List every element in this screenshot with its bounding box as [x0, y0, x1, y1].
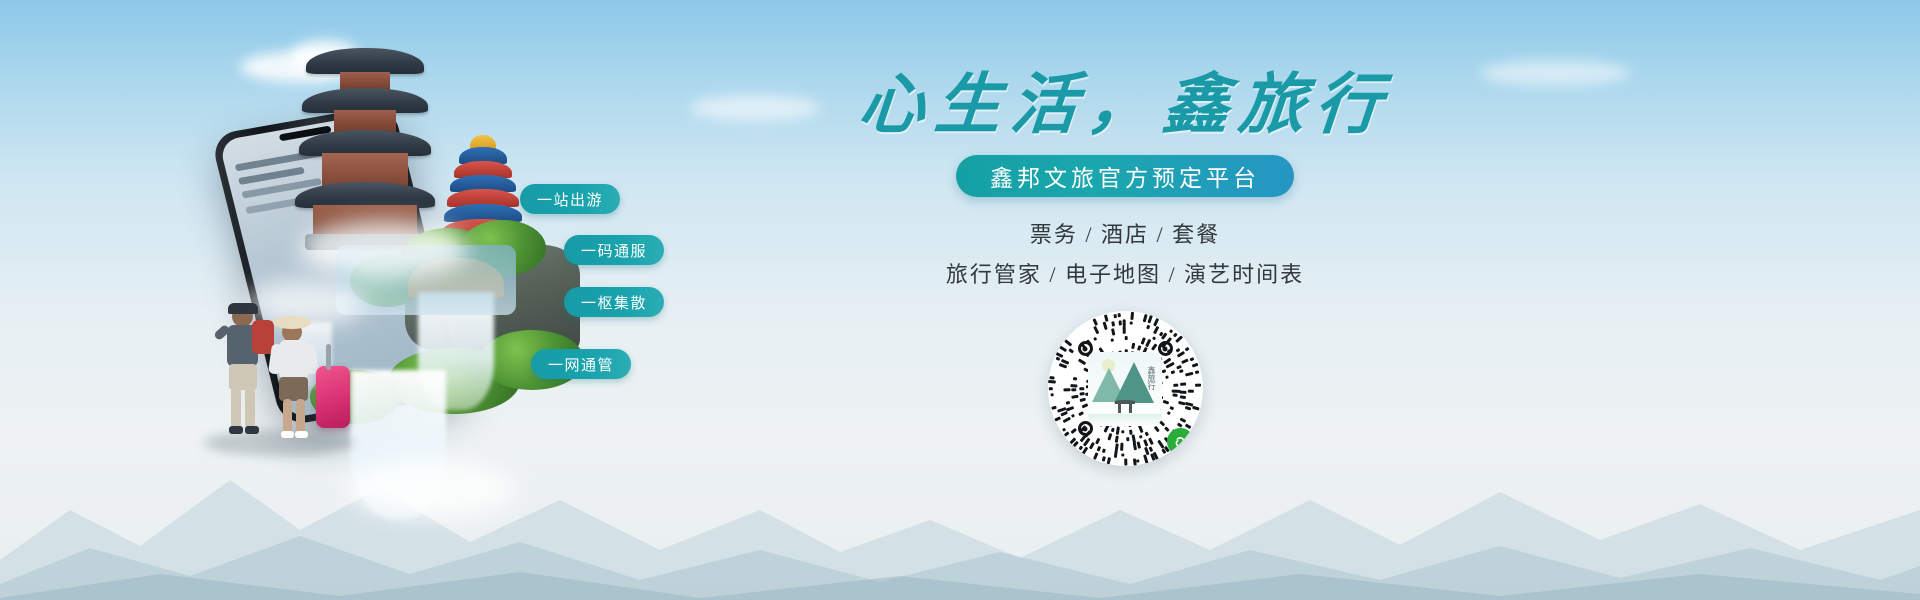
qr-module [1115, 435, 1119, 442]
qr-module [1180, 382, 1186, 385]
feature-pill-label: 一枢集散 [581, 292, 647, 313]
qr-module [1064, 339, 1072, 346]
service-line-1: 票务 / 酒店 / 套餐 [815, 217, 1435, 249]
qr-module [1096, 446, 1101, 452]
qr-module [1192, 406, 1200, 410]
qr-module [1151, 344, 1157, 351]
qr-brand-text: 鑫旅行 [1147, 366, 1156, 390]
qr-module [1123, 327, 1126, 335]
qr-module [1104, 314, 1108, 322]
qr-module [1194, 371, 1199, 374]
qr-module [1096, 438, 1101, 444]
traveler-male [216, 306, 274, 438]
qr-module [1048, 381, 1056, 384]
qr-module [1125, 459, 1128, 466]
qr-module [1059, 346, 1067, 352]
qr-module [1147, 315, 1152, 324]
official-platform-badge[interactable]: 鑫邦文旅官方预定平台 [956, 155, 1294, 197]
qr-center-logo: 鑫旅行 [1088, 352, 1162, 426]
qr-module [1062, 428, 1066, 432]
cloud-decoration [1480, 60, 1630, 86]
qr-module [1078, 358, 1086, 364]
qr-module [1123, 319, 1126, 326]
qr-module [1107, 457, 1111, 465]
wechat-miniprogram-icon [1167, 428, 1194, 455]
qr-module [1120, 443, 1123, 452]
qr-module [1073, 377, 1077, 380]
qr-module [1173, 332, 1177, 336]
qr-module [1167, 411, 1171, 415]
qr-module [1113, 314, 1116, 319]
qr-module [1195, 383, 1201, 386]
qr-module [1063, 389, 1070, 392]
qr-module [1111, 428, 1115, 433]
feature-pill-0[interactable]: 一站出游 [520, 184, 620, 214]
qr-module [1071, 428, 1077, 434]
qr-module [1111, 321, 1114, 326]
qr-module [1050, 387, 1054, 390]
qr-module [1181, 359, 1189, 364]
qr-module [1175, 335, 1183, 342]
feature-pill-3[interactable]: 一网通管 [531, 349, 631, 379]
qr-module [1185, 371, 1193, 375]
qr-module [1180, 390, 1187, 393]
qr-module [1165, 375, 1169, 378]
qr-module [1185, 406, 1191, 410]
feature-pill-label: 一码通服 [581, 240, 647, 261]
qr-module [1079, 392, 1085, 395]
qr-module [1092, 318, 1097, 326]
qr-module [1131, 312, 1134, 320]
qr-module [1068, 348, 1074, 353]
qr-module [1149, 447, 1153, 452]
qr-module [1176, 365, 1182, 369]
qr-module [1111, 338, 1114, 342]
qr-module [1185, 347, 1190, 351]
travel-promo-banner: 一站出游 一码通服 一枢集散 一网通管 心生活，鑫旅行 鑫邦文旅官方预定平台 票… [0, 0, 1920, 600]
qr-module [1107, 433, 1112, 441]
qr-module [1171, 370, 1176, 374]
qr-module [1124, 336, 1127, 340]
qr-module [1130, 321, 1133, 324]
qr-module [1073, 441, 1079, 447]
qr-module [1145, 339, 1151, 347]
qr-module [1145, 432, 1149, 437]
qr-module [1116, 427, 1120, 436]
qr-module [1122, 430, 1125, 434]
pavilion-icon [1129, 404, 1132, 413]
qr-module [1051, 407, 1057, 411]
qr-eye-icon [1158, 341, 1173, 356]
qr-module [1072, 389, 1077, 392]
qr-module [1149, 437, 1154, 444]
mist-effect [346, 460, 516, 518]
qr-module [1089, 442, 1095, 450]
qr-module [1049, 377, 1054, 380]
official-badge-row: 鑫邦文旅官方预定平台 [815, 155, 1435, 197]
qr-module [1055, 417, 1061, 422]
qr-module [1188, 389, 1194, 392]
qr-module [1060, 412, 1068, 417]
qr-module [1079, 387, 1084, 390]
qr-module [1142, 314, 1147, 323]
pavilion-icon [1118, 404, 1121, 413]
qr-module [1071, 414, 1075, 418]
rolling-suitcase [316, 366, 350, 428]
qr-module [1185, 424, 1191, 429]
service-line-2: 旅行管家 / 电子地图 / 演艺时间表 [815, 257, 1435, 289]
wechat-miniprogram-qr-code[interactable]: 鑫旅行 [1048, 311, 1203, 466]
feature-pill-list: 一站出游 一码通服 一枢集散 一网通管 [520, 180, 750, 390]
qr-module [1144, 455, 1149, 464]
qr-module [1082, 447, 1089, 455]
feature-pill-2[interactable]: 一枢集散 [564, 287, 664, 317]
qr-module [1112, 328, 1116, 335]
qr-module [1137, 442, 1141, 449]
qr-module [1180, 417, 1186, 422]
water-line [1088, 414, 1162, 426]
qr-module [1114, 450, 1118, 459]
qr-module [1177, 351, 1186, 358]
qr-module [1131, 343, 1135, 349]
qr-module [1056, 357, 1060, 361]
qr-module [1093, 337, 1097, 341]
qr-module [1118, 313, 1121, 318]
qr-module [1163, 400, 1170, 404]
qr-module [1129, 429, 1132, 434]
qr-module [1094, 453, 1099, 460]
qr-module [1162, 369, 1167, 373]
qr-module [1071, 384, 1078, 387]
qr-module [1192, 363, 1199, 367]
qr-module [1102, 449, 1106, 454]
qr-module [1140, 435, 1144, 439]
qr-module [1146, 325, 1150, 330]
qr-module [1066, 406, 1075, 411]
qr-module [1063, 417, 1071, 423]
qr-code-row: 鑫旅行 [815, 311, 1435, 466]
suitcase-handle [326, 344, 331, 370]
qr-module [1169, 329, 1173, 333]
qr-module [1092, 325, 1098, 334]
qr-module [1050, 393, 1054, 396]
qr-module [1066, 402, 1070, 405]
qr-module [1152, 336, 1156, 340]
feature-pill-label: 一站出游 [537, 189, 603, 210]
phone-ui-row [245, 198, 300, 214]
qr-module [1119, 320, 1122, 325]
qr-module [1164, 427, 1169, 432]
feature-pill-1[interactable]: 一码通服 [564, 235, 664, 265]
qr-module [1103, 457, 1107, 463]
headline-slogan: 心生活，鑫旅行 [812, 70, 1438, 141]
feature-pill-label: 一网通管 [548, 354, 614, 375]
qr-module [1169, 406, 1174, 410]
qr-module [1154, 425, 1160, 431]
promo-text-block: 心生活，鑫旅行 鑫邦文旅官方预定平台 票务 / 酒店 / 套餐 旅行管家 / 电… [815, 70, 1435, 466]
qr-module [1177, 423, 1183, 428]
qr-module [1080, 398, 1086, 402]
qr-module [1065, 432, 1070, 437]
qr-module [1103, 322, 1108, 330]
mist-effect [300, 220, 470, 278]
qr-module [1190, 357, 1195, 361]
qr-module [1078, 411, 1084, 416]
qr-module [1179, 369, 1183, 373]
qr-module [1180, 395, 1186, 398]
qr-module [1137, 345, 1141, 350]
qr-module [1127, 438, 1130, 442]
qr-module [1173, 383, 1179, 386]
qr-module [1122, 453, 1125, 456]
qr-module [1071, 395, 1078, 399]
qr-module [1173, 394, 1178, 397]
qr-module [1137, 459, 1140, 462]
qr-module [1153, 326, 1159, 334]
